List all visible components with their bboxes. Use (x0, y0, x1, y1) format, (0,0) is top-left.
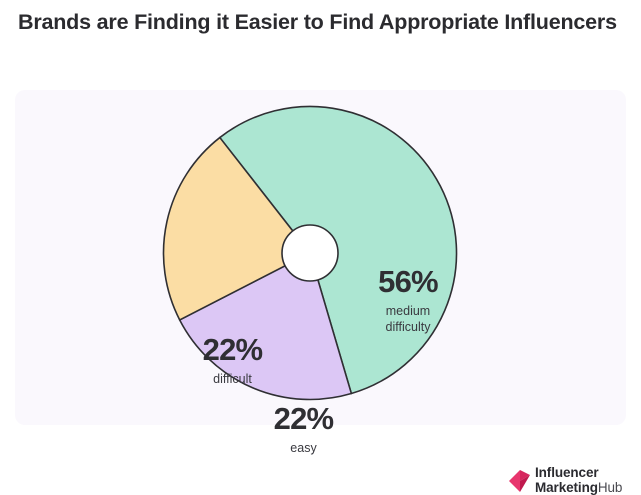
brand-line-2-light: Hub (598, 480, 622, 495)
brand-line-1: Influencer (535, 466, 622, 481)
page-title: Brands are Finding it Easier to Find App… (18, 8, 618, 37)
slice-name-easy: easy (251, 440, 356, 456)
donut-chart (160, 103, 460, 403)
slice-label-easy: 22% easy (251, 403, 356, 456)
slice-value-easy: 22% (251, 403, 356, 436)
brand-line-2: MarketingHub (535, 481, 622, 495)
donut-chart-svg (160, 103, 460, 403)
chart-card: 56% medium difficulty 22% difficult 22% … (15, 90, 626, 425)
brand-wordmark: Influencer MarketingHub (535, 466, 622, 495)
influencer-marketing-hub-arrow-icon (509, 469, 531, 493)
brand-logo: Influencer MarketingHub (509, 466, 622, 495)
brand-line-2-bold: Marketing (535, 480, 598, 495)
donut-center-hole (282, 225, 338, 281)
